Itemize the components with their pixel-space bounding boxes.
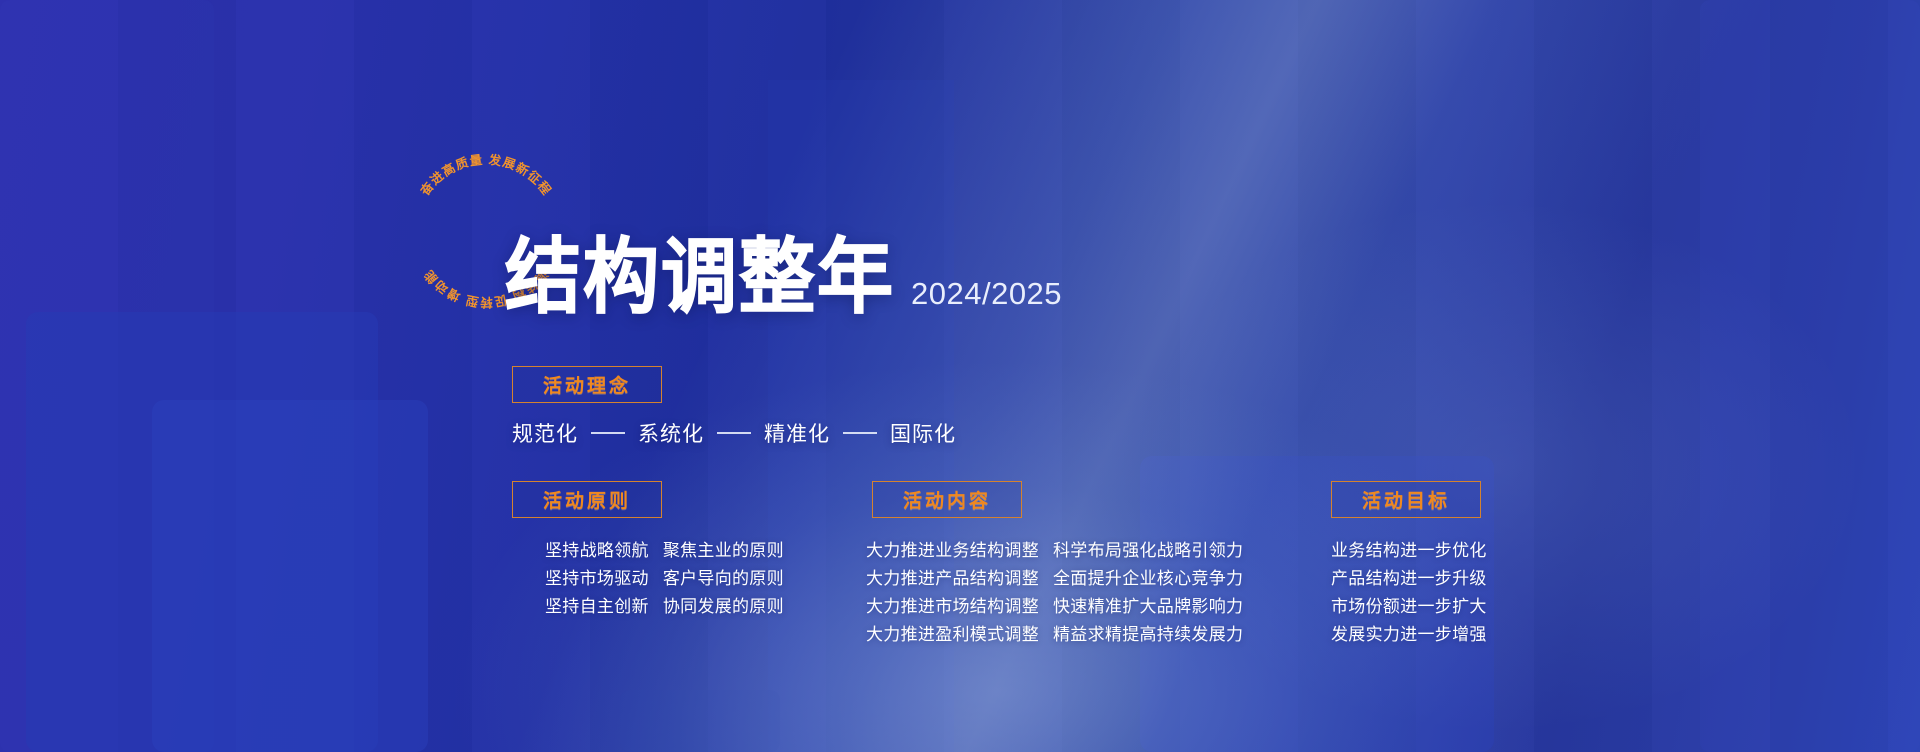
goal-2: 市场份额进一步扩大	[1331, 593, 1487, 621]
list-item: 业务结构进一步优化	[1331, 537, 1487, 565]
ideas-item-0: 规范化	[512, 418, 578, 448]
column-principles: 坚持战略领航 聚焦主业的原则 坚持市场驱动 客户导向的原则 坚持自主创新 协同发…	[545, 537, 784, 621]
background-block-base	[620, 690, 780, 752]
background-block-center-tower	[768, 80, 954, 752]
slogan-dash	[591, 432, 625, 434]
content-right-0: 科学布局强化战略引领力	[1053, 537, 1243, 565]
text-gap	[649, 565, 663, 593]
text-gap	[649, 537, 663, 565]
title-row: 结构调整年 2024/2025	[505, 243, 1062, 319]
list-item: 产品结构进一步升级	[1331, 565, 1487, 593]
list-item: 大力推进产品结构调整 全面提升企业核心竞争力	[866, 565, 1243, 593]
goal-0: 业务结构进一步优化	[1331, 537, 1487, 565]
ideas-item-1: 系统化	[638, 418, 704, 448]
text-gap	[1039, 565, 1053, 593]
list-item: 大力推进业务结构调整 科学布局强化战略引领力	[866, 537, 1243, 565]
goal-3: 发展实力进一步增强	[1331, 621, 1487, 649]
background-block-far-left	[0, 0, 214, 752]
principle-right-0: 聚焦主业的原则	[663, 537, 784, 565]
list-item: 坚持自主创新 协同发展的原则	[545, 593, 784, 621]
list-item: 坚持市场驱动 客户导向的原则	[545, 565, 784, 593]
badge-ideas: 活动理念	[512, 366, 662, 403]
background-block-far-right	[1700, 0, 1920, 752]
badge-principles: 活动原则	[512, 481, 662, 518]
background-block-left-large	[26, 312, 378, 752]
content-left-3: 大力推进盈利模式调整	[866, 621, 1039, 649]
principle-left-0: 坚持战略领航	[545, 537, 649, 565]
text-gap	[1039, 593, 1053, 621]
seal-arc-top-text: 奋进高质量 发展新征程	[416, 152, 554, 199]
list-item: 大力推进盈利模式调整 精益求精提高持续发展力	[866, 621, 1243, 649]
ideas-item-3: 国际化	[890, 418, 956, 448]
background-block-left-small	[152, 400, 428, 752]
banner-stage: 奋进高质量 发展新征程 调结构 促转型 增动能 结构调整年 2024/2025 …	[0, 0, 1920, 752]
content-right-1: 全面提升企业核心竞争力	[1053, 565, 1243, 593]
content-left-1: 大力推进产品结构调整	[866, 565, 1039, 593]
principle-right-1: 客户导向的原则	[663, 565, 784, 593]
text-gap	[649, 593, 663, 621]
badge-goals: 活动目标	[1331, 481, 1481, 518]
text-gap	[1039, 537, 1053, 565]
list-item: 市场份额进一步扩大	[1331, 593, 1487, 621]
column-content: 大力推进业务结构调整 科学布局强化战略引领力 大力推进产品结构调整 全面提升企业…	[866, 537, 1243, 649]
badge-content: 活动内容	[872, 481, 1022, 518]
content-left-0: 大力推进业务结构调整	[866, 537, 1039, 565]
title-year: 2024/2025	[911, 276, 1062, 319]
goal-1: 产品结构进一步升级	[1331, 565, 1487, 593]
content-right-3: 精益求精提高持续发展力	[1053, 621, 1243, 649]
principle-right-2: 协同发展的原则	[663, 593, 784, 621]
text-gap	[1039, 621, 1053, 649]
list-item: 大力推进市场结构调整 快速精准扩大品牌影响力	[866, 593, 1243, 621]
content-left-2: 大力推进市场结构调整	[866, 593, 1039, 621]
principle-left-2: 坚持自主创新	[545, 593, 649, 621]
slogan-dash	[717, 432, 751, 434]
column-goals: 业务结构进一步优化 产品结构进一步升级 市场份额进一步扩大 发展实力进一步增强	[1331, 537, 1487, 649]
list-item: 发展实力进一步增强	[1331, 621, 1487, 649]
list-item: 坚持战略领航 聚焦主业的原则	[545, 537, 784, 565]
ideas-slogan: 规范化 系统化 精准化 国际化	[512, 418, 956, 448]
content-right-2: 快速精准扩大品牌影响力	[1053, 593, 1243, 621]
page-title: 结构调整年	[505, 237, 895, 319]
ideas-item-2: 精准化	[764, 418, 830, 448]
slogan-dash	[843, 432, 877, 434]
principle-left-1: 坚持市场驱动	[545, 565, 649, 593]
